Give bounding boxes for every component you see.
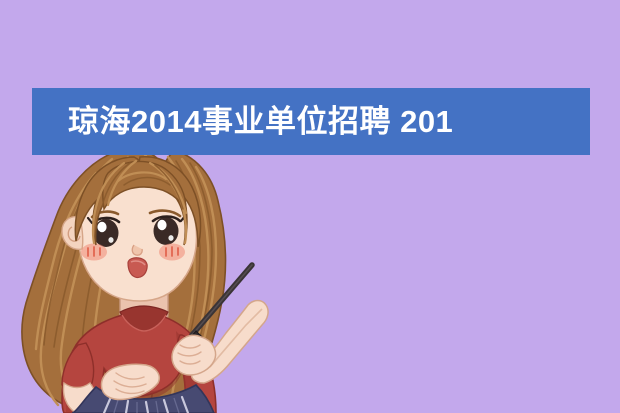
title-banner: 琼海2014事业单位招聘 201	[32, 88, 590, 155]
blush-left	[81, 244, 107, 261]
illustration-svg	[0, 155, 620, 413]
cartoon-teacher-illustration	[0, 155, 620, 413]
page-title: 琼海2014事业单位招聘 201	[68, 106, 453, 137]
blush-right	[159, 244, 185, 261]
screenshot-canvas: 琼海2014事业单位招聘 201	[0, 0, 620, 413]
